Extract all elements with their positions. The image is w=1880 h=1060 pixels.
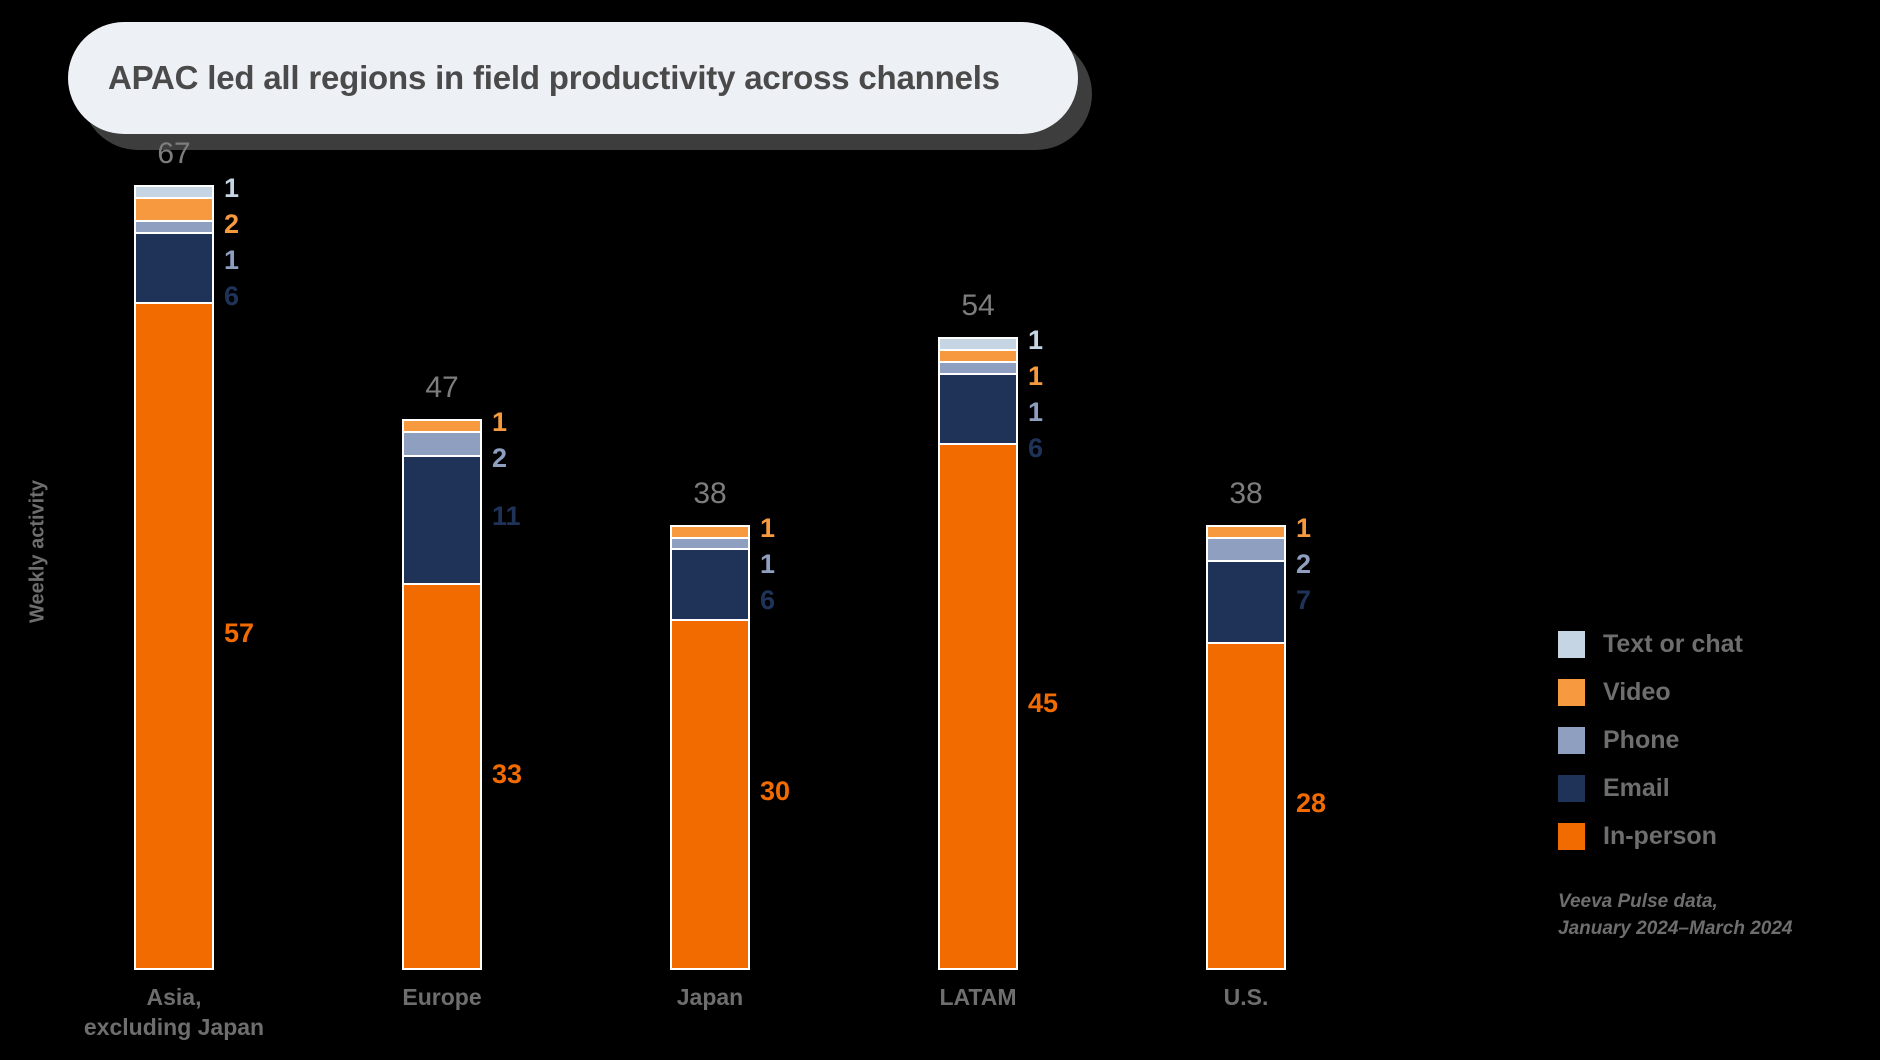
source-line-1: Veeva Pulse data,	[1558, 888, 1868, 915]
bar-segment-in-person[interactable]	[134, 302, 214, 970]
segment-value-label-phone: 2	[492, 443, 507, 474]
bar-segment-in-person[interactable]	[402, 583, 482, 970]
legend: Text or chatVideoPhoneEmailIn-person	[1558, 630, 1858, 870]
bar-segment-video[interactable]	[1206, 525, 1286, 537]
bar-segment-email[interactable]	[402, 455, 482, 584]
legend-item-video[interactable]: Video	[1558, 678, 1858, 707]
x-axis-category-label: U.S.	[1144, 982, 1348, 1012]
bar-segment-text-or-chat[interactable]	[134, 185, 214, 197]
stacked-bar[interactable]	[134, 185, 214, 970]
bar-segment-phone[interactable]	[938, 361, 1018, 373]
segment-value-label-text-or-chat: 1	[1028, 325, 1043, 356]
bar-segment-in-person[interactable]	[1206, 642, 1286, 970]
segment-value-label-video: 1	[1296, 513, 1311, 544]
segment-value-label-phone: 1	[760, 549, 775, 580]
segment-value-label-phone: 1	[224, 245, 239, 276]
source-note: Veeva Pulse data, January 2024–March 202…	[1558, 888, 1868, 942]
segment-value-label-in-person: 33	[492, 759, 522, 790]
legend-item-in-person[interactable]: In-person	[1558, 822, 1858, 851]
segment-value-label-video: 2	[224, 209, 239, 240]
stacked-bar[interactable]	[1206, 525, 1286, 970]
segment-value-label-in-person: 30	[760, 776, 790, 807]
segment-value-label-email: 6	[224, 281, 239, 312]
category-line-1: U.S.	[1144, 982, 1348, 1012]
legend-label: Email	[1603, 774, 1670, 803]
x-axis-category-label: Asia,excluding Japan	[72, 982, 276, 1042]
category-line-1: Asia,	[72, 982, 276, 1012]
legend-item-text-or-chat[interactable]: Text or chat	[1558, 630, 1858, 659]
bar-segment-email[interactable]	[134, 232, 214, 302]
category-line-2: excluding Japan	[72, 1012, 276, 1042]
bar-group: 47121133Europe	[350, 150, 570, 970]
x-axis-category-label: Japan	[608, 982, 812, 1012]
category-line-1: LATAM	[876, 982, 1080, 1012]
bar-segment-in-person[interactable]	[938, 443, 1018, 970]
bar-group: 3812728U.S.	[1154, 150, 1374, 970]
bar-total-label: 38	[670, 477, 750, 511]
page-title: APAC led all regions in field productivi…	[108, 59, 1000, 97]
legend-item-email[interactable]: Email	[1558, 774, 1858, 803]
y-axis-title: Weekly activity	[27, 452, 50, 652]
bar-total-label: 38	[1206, 477, 1286, 511]
category-line-1: Japan	[608, 982, 812, 1012]
segment-value-label-email: 6	[1028, 433, 1043, 464]
bar-segment-in-person[interactable]	[670, 619, 750, 970]
bar-segment-text-or-chat[interactable]	[938, 337, 1018, 349]
plot-area: 67121657Asia,excluding Japan47121133Euro…	[60, 150, 1520, 970]
bar-segment-phone[interactable]	[402, 431, 482, 454]
legend-swatch-icon	[1558, 727, 1585, 754]
bar-segment-email[interactable]	[1206, 560, 1286, 642]
bar-total-label: 47	[402, 371, 482, 405]
bar-total-label: 54	[938, 289, 1018, 323]
source-line-2: January 2024–March 2024	[1558, 915, 1868, 942]
bar-segment-video[interactable]	[134, 197, 214, 220]
legend-label: Text or chat	[1603, 630, 1743, 659]
legend-label: Video	[1603, 678, 1671, 707]
segment-value-label-text-or-chat: 1	[224, 173, 239, 204]
chart-root: APAC led all regions in field productivi…	[0, 0, 1880, 1060]
segment-value-label-video: 1	[760, 513, 775, 544]
legend-swatch-icon	[1558, 775, 1585, 802]
bar-total-label: 67	[134, 137, 214, 171]
segment-value-label-video: 1	[492, 407, 507, 438]
bar-group: 3811630Japan	[618, 150, 838, 970]
legend-item-phone[interactable]: Phone	[1558, 726, 1858, 755]
legend-swatch-icon	[1558, 679, 1585, 706]
bar-segment-video[interactable]	[670, 525, 750, 537]
bar-segment-email[interactable]	[670, 548, 750, 618]
bar-segment-phone[interactable]	[134, 220, 214, 232]
bar-segment-phone[interactable]	[1206, 537, 1286, 560]
bar-group: 54111645LATAM	[886, 150, 1106, 970]
bar-segment-phone[interactable]	[670, 537, 750, 549]
segment-value-label-in-person: 57	[224, 618, 254, 649]
segment-value-label-phone: 1	[1028, 397, 1043, 428]
title-callout: APAC led all regions in field productivi…	[68, 22, 1078, 134]
bar-segment-video[interactable]	[938, 349, 1018, 361]
segment-value-label-email: 6	[760, 585, 775, 616]
segment-value-label-phone: 2	[1296, 549, 1311, 580]
category-line-1: Europe	[340, 982, 544, 1012]
bar-segment-video[interactable]	[402, 419, 482, 431]
legend-label: Phone	[1603, 726, 1679, 755]
bar-segment-email[interactable]	[938, 373, 1018, 443]
segment-value-label-in-person: 45	[1028, 688, 1058, 719]
segment-value-label-email: 11	[492, 501, 521, 532]
bar-group: 67121657Asia,excluding Japan	[82, 150, 302, 970]
segment-value-label-in-person: 28	[1296, 788, 1326, 819]
x-axis-category-label: Europe	[340, 982, 544, 1012]
legend-swatch-icon	[1558, 631, 1585, 658]
x-axis-category-label: LATAM	[876, 982, 1080, 1012]
segment-value-label-email: 7	[1296, 585, 1311, 616]
stacked-bar[interactable]	[670, 525, 750, 970]
stacked-bar[interactable]	[402, 419, 482, 970]
segment-value-label-video: 1	[1028, 361, 1043, 392]
legend-label: In-person	[1603, 822, 1717, 851]
legend-swatch-icon	[1558, 823, 1585, 850]
stacked-bar[interactable]	[938, 337, 1018, 970]
